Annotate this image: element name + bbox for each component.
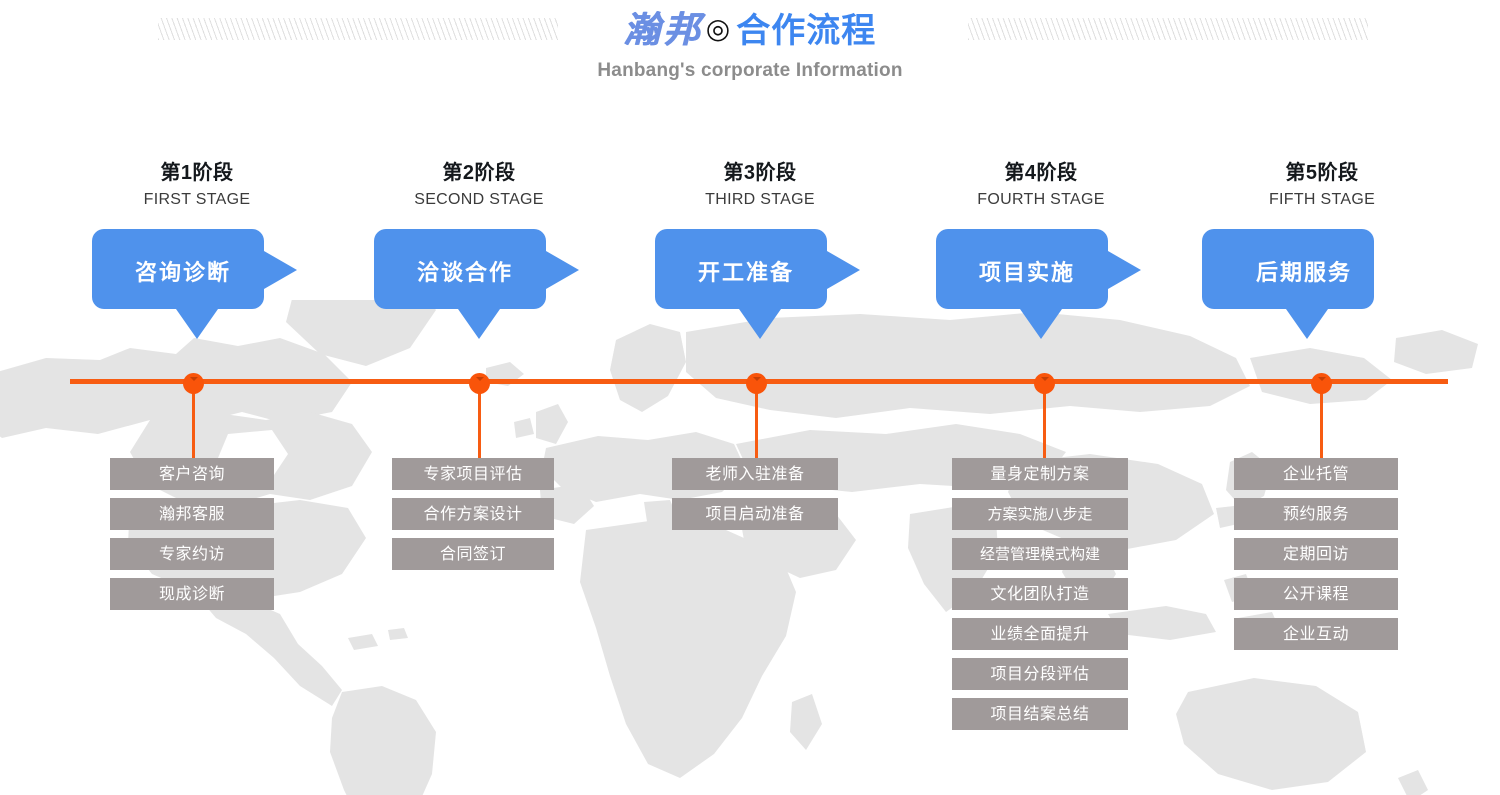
title-text-cn: 合作流程	[736, 12, 876, 50]
stage-item[interactable]: 经营管理模式构建	[952, 538, 1128, 570]
stage-column-1: 第1阶段 FIRST STAGE 咨询诊断	[72, 160, 322, 339]
stage-title-en-4: FOURTH STAGE	[916, 189, 1166, 211]
timeline-dot-3[interactable]	[746, 373, 767, 394]
stage-title-en-1: FIRST STAGE	[72, 189, 322, 211]
stage-title-en-2: SECOND STAGE	[354, 189, 604, 211]
stage-connector-4	[1043, 384, 1046, 458]
stage-item[interactable]: 合同签订	[392, 538, 554, 570]
stage-title-cn-3: 第3阶段	[635, 160, 885, 186]
stage-connector-1	[192, 384, 195, 458]
stage-item[interactable]: 瀚邦客服	[110, 498, 274, 530]
stage-column-3: 第3阶段 THIRD STAGE 开工准备	[635, 160, 885, 339]
stage-column-4: 第4阶段 FOURTH STAGE 项目实施	[916, 160, 1166, 339]
timeline-dot-4[interactable]	[1034, 373, 1055, 394]
stage-item[interactable]: 合作方案设计	[392, 498, 554, 530]
stage-item[interactable]: 专家项目评估	[392, 458, 554, 490]
stage-badge-4[interactable]: 项目实施	[916, 229, 1166, 339]
page-title: 瀚邦◎合作流程	[0, 8, 1500, 52]
stage-item[interactable]: 企业托管	[1234, 458, 1398, 490]
stage-item-list-2: 专家项目评估合作方案设计合同签订	[392, 458, 554, 578]
badge-shape-3	[655, 229, 865, 339]
stage-connector-5	[1320, 384, 1323, 458]
timeline-dot-5[interactable]	[1311, 373, 1332, 394]
stage-title-en-3: THIRD STAGE	[635, 189, 885, 211]
badge-shape-4	[936, 229, 1146, 339]
stage-badge-5[interactable]: 后期服务	[1197, 229, 1447, 339]
stage-title-cn-4: 第4阶段	[916, 160, 1166, 186]
stage-connector-3	[755, 384, 758, 458]
stage-item[interactable]: 项目结案总结	[952, 698, 1128, 730]
stage-item[interactable]: 项目分段评估	[952, 658, 1128, 690]
stage-column-2: 第2阶段 SECOND STAGE 洽谈合作	[354, 160, 604, 339]
timeline-dot-2[interactable]	[469, 373, 490, 394]
stage-title-cn-2: 第2阶段	[354, 160, 604, 186]
stage-connector-2	[478, 384, 481, 458]
stage-item[interactable]: 方案实施八步走	[952, 498, 1128, 530]
stage-title-en-5: FIFTH STAGE	[1197, 189, 1447, 211]
stage-item[interactable]: 业绩全面提升	[952, 618, 1128, 650]
stage-item[interactable]: 文化团队打造	[952, 578, 1128, 610]
stage-badge-1[interactable]: 咨询诊断	[72, 229, 322, 339]
stage-item[interactable]: 预约服务	[1234, 498, 1398, 530]
stage-item[interactable]: 量身定制方案	[952, 458, 1128, 490]
stage-item[interactable]: 定期回访	[1234, 538, 1398, 570]
stage-column-5: 第5阶段 FIFTH STAGE 后期服务	[1197, 160, 1447, 339]
stage-item[interactable]: 专家约访	[110, 538, 274, 570]
brand-mark-icon: ◎	[706, 13, 730, 44]
stage-item[interactable]: 客户咨询	[110, 458, 274, 490]
stage-item-list-3: 老师入驻准备项目启动准备	[672, 458, 838, 538]
stage-item-list-1: 客户咨询瀚邦客服专家约访现成诊断	[110, 458, 274, 618]
brand-name-cn: 瀚邦	[624, 10, 704, 50]
badge-shape-5	[1202, 229, 1412, 339]
stage-badge-3[interactable]: 开工准备	[635, 229, 885, 339]
stage-item[interactable]: 项目启动准备	[672, 498, 838, 530]
stage-item[interactable]: 老师入驻准备	[672, 458, 838, 490]
badge-shape-2	[374, 229, 584, 339]
stage-item-list-4: 量身定制方案方案实施八步走经营管理模式构建文化团队打造业绩全面提升项目分段评估项…	[952, 458, 1128, 738]
stage-item[interactable]: 公开课程	[1234, 578, 1398, 610]
stage-item-list-5: 企业托管预约服务定期回访公开课程企业互动	[1234, 458, 1398, 658]
stage-item[interactable]: 企业互动	[1234, 618, 1398, 650]
page-subtitle: Hanbang's corporate Information	[0, 60, 1500, 82]
stage-item[interactable]: 现成诊断	[110, 578, 274, 610]
badge-shape-1	[92, 229, 302, 339]
timeline-dot-1[interactable]	[183, 373, 204, 394]
stage-badge-2[interactable]: 洽谈合作	[354, 229, 604, 339]
stage-title-cn-5: 第5阶段	[1197, 160, 1447, 186]
infographic-canvas: 瀚邦◎合作流程 Hanbang's corporate Information …	[0, 0, 1500, 795]
stage-title-cn-1: 第1阶段	[72, 160, 322, 186]
